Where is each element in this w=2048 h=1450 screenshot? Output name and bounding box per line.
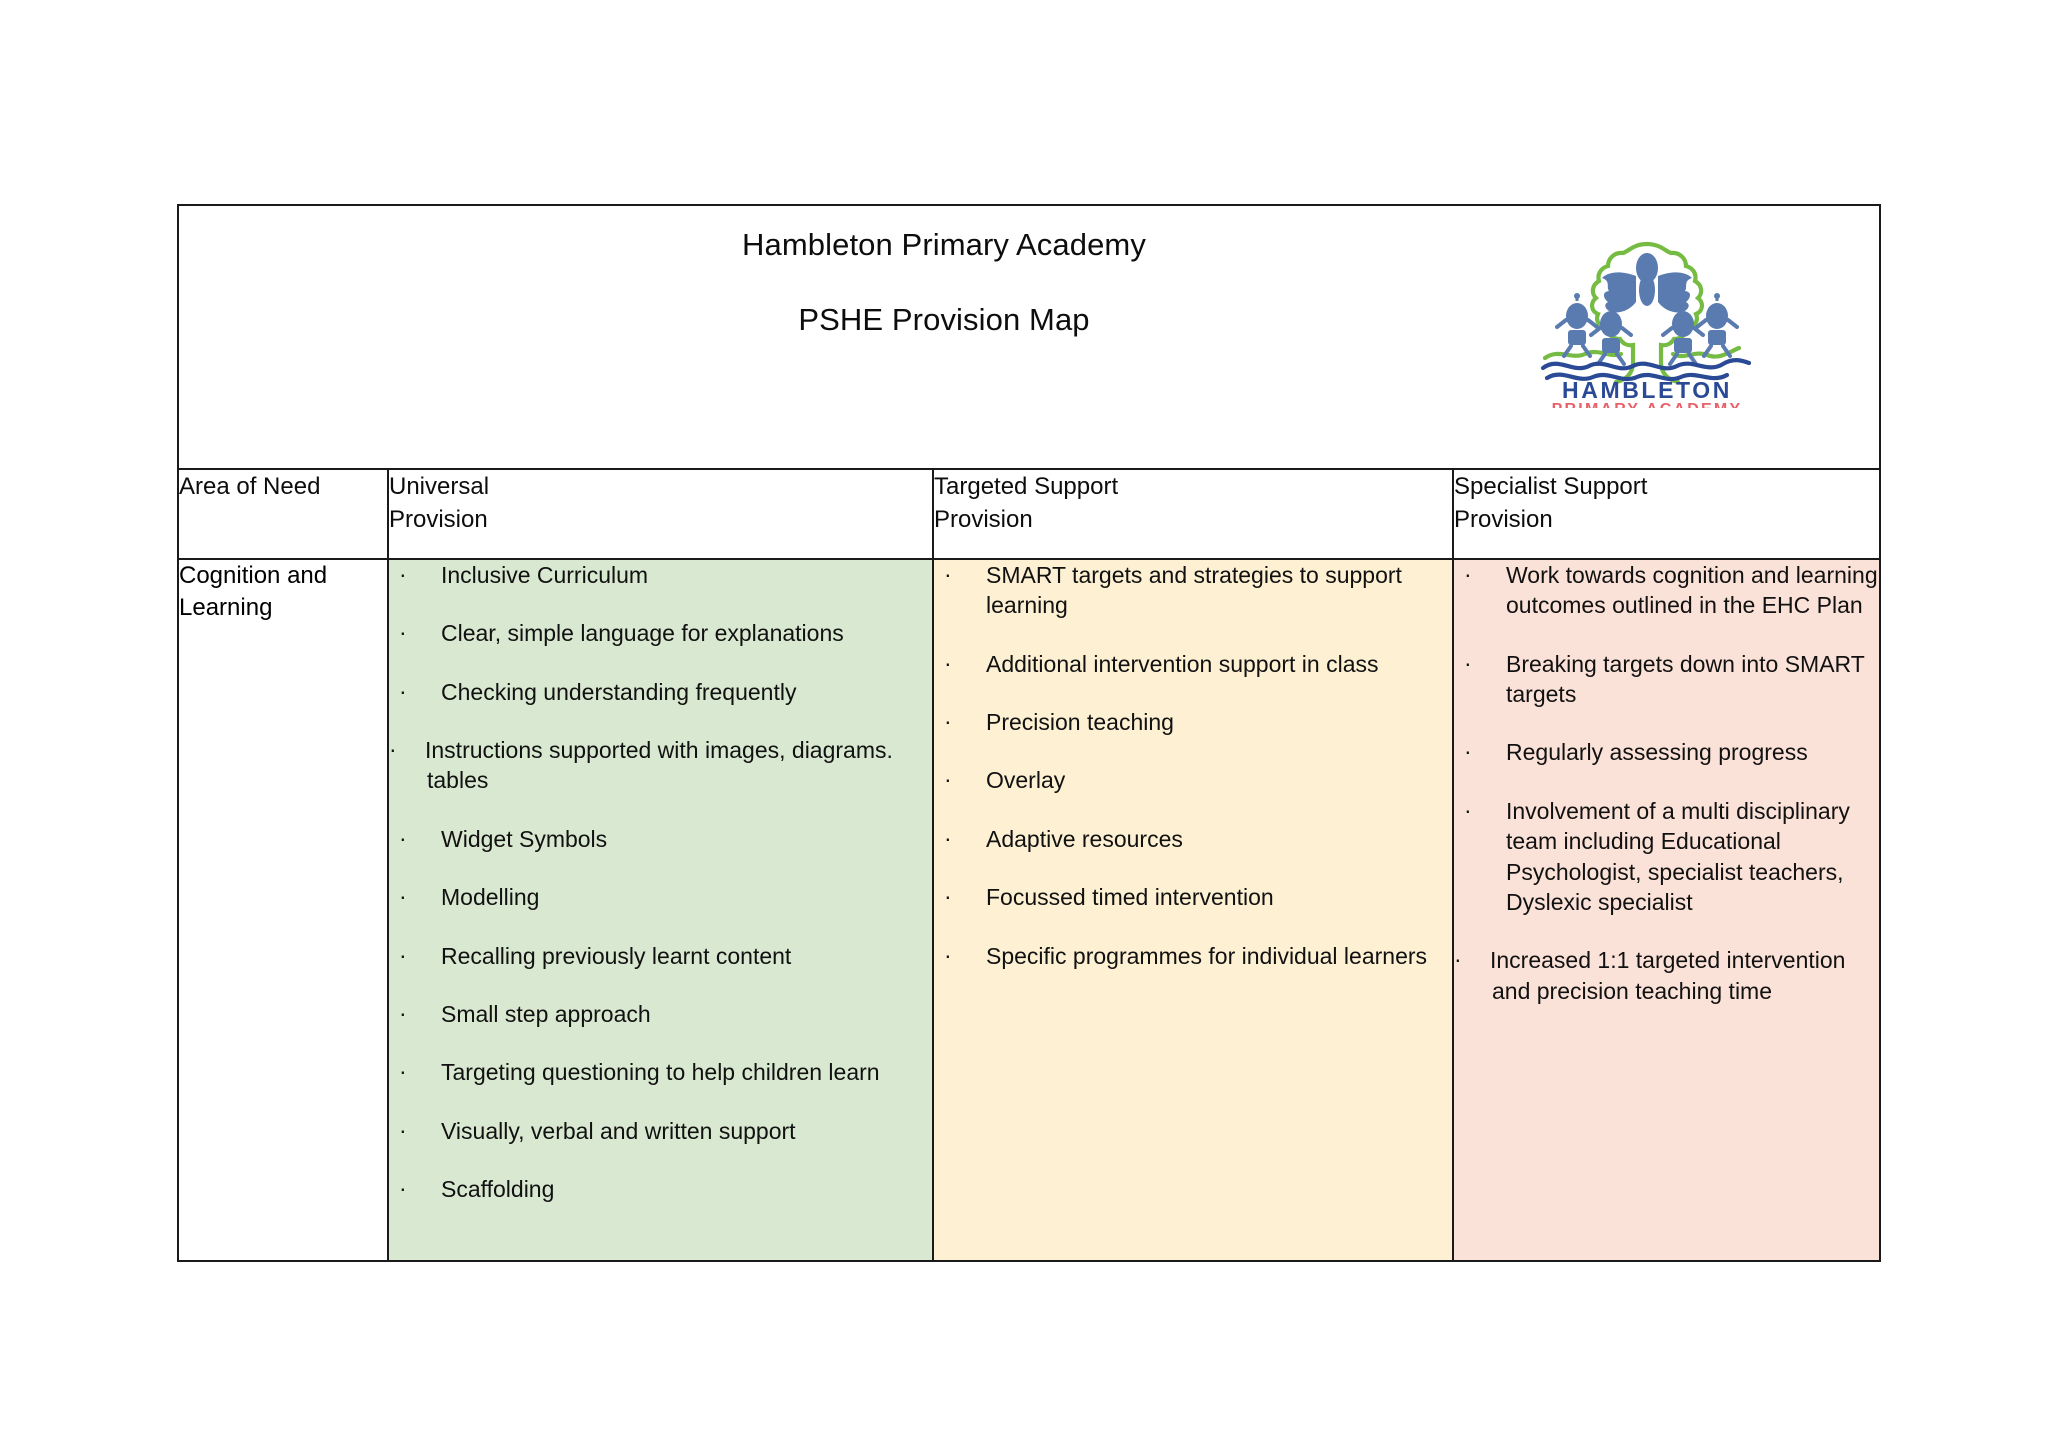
- column-header-label-line2: Provision: [1454, 503, 1879, 536]
- column-header-label-line2: Provision: [934, 503, 1452, 536]
- list-item: · Modelling: [389, 882, 932, 912]
- bullet-dot-icon: ·: [1464, 559, 1472, 589]
- universal-provision-list: · Inclusive Curriculum · Clear, simple l…: [389, 560, 932, 1204]
- list-item-text: Adaptive resources: [986, 826, 1183, 852]
- column-header-area-of-need: Area of Need: [178, 469, 388, 559]
- logo-wordmark-bottom: PRIMARY ACADEMY: [1552, 401, 1743, 408]
- list-item-text: Involvement of a multi disciplinary team…: [1506, 798, 1850, 915]
- column-header-specialist-support-provision: Specialist Support Provision: [1453, 469, 1880, 559]
- bullet-dot-icon: ·: [944, 559, 952, 589]
- column-header-targeted-support-provision: Targeted Support Provision: [933, 469, 1453, 559]
- area-of-need-cell: Cognition and Learning: [178, 559, 388, 1261]
- list-item-text: Inclusive Curriculum: [441, 562, 648, 588]
- table-column-header-row: Area of Need Universal Provision Targete…: [178, 469, 1880, 559]
- list-item-text: Additional intervention support in class: [986, 651, 1379, 677]
- targeted-support-provision-cell: · SMART targets and strategies to suppor…: [933, 559, 1453, 1261]
- bullet-dot-icon: ·: [399, 676, 407, 706]
- list-item: · Instructions supported with images, di…: [389, 735, 932, 796]
- bullet-dot-icon: ·: [944, 648, 952, 678]
- list-item: · Precision teaching: [934, 707, 1452, 737]
- document-title-cell: Hambleton Primary Academy PSHE Provision…: [178, 205, 1880, 469]
- list-item-text: Overlay: [986, 767, 1065, 793]
- list-item-text: Regularly assessing progress: [1506, 739, 1808, 765]
- bullet-dot-icon: ·: [389, 734, 397, 764]
- list-item: · Breaking targets down into SMART targe…: [1454, 649, 1879, 710]
- list-item: · Regularly assessing progress: [1454, 737, 1879, 767]
- list-item: · Increased 1:1 targeted intervention an…: [1454, 945, 1879, 1006]
- list-item-text: SMART targets and strategies to support …: [986, 562, 1402, 618]
- list-item: · Visually, verbal and written support: [389, 1116, 932, 1146]
- bullet-dot-icon: ·: [399, 998, 407, 1028]
- table-row: Cognition and Learning · Inclusive Curri…: [178, 559, 1880, 1261]
- bullet-dot-icon: ·: [944, 881, 952, 911]
- list-item-text: Focussed timed intervention: [986, 884, 1274, 910]
- list-item: · SMART targets and strategies to suppor…: [934, 560, 1452, 621]
- column-header-label: Area of Need: [179, 470, 387, 503]
- bullet-dot-icon: ·: [944, 940, 952, 970]
- bullet-dot-icon: ·: [944, 764, 952, 794]
- bullet-dot-icon: ·: [399, 559, 407, 589]
- bullet-dot-icon: ·: [1464, 795, 1472, 825]
- bullet-dot-icon: ·: [944, 706, 952, 736]
- column-header-label-line1: Targeted Support: [934, 470, 1452, 503]
- list-item: · Small step approach: [389, 999, 932, 1029]
- area-of-need-label-line1: Cognition and: [179, 560, 387, 592]
- list-item: · Clear, simple language for explanation…: [389, 618, 932, 648]
- list-item-text: Work towards cognition and learning outc…: [1506, 562, 1878, 618]
- list-item: · Additional intervention support in cla…: [934, 649, 1452, 679]
- list-item-text: Modelling: [441, 884, 539, 910]
- list-item: · Recalling previously learnt content: [389, 941, 932, 971]
- bullet-dot-icon: ·: [1464, 736, 1472, 766]
- specialist-support-provision-list: · Work towards cognition and learning ou…: [1454, 560, 1879, 1006]
- list-item: · Inclusive Curriculum: [389, 560, 932, 590]
- page-subtitle: PSHE Provision Map: [179, 301, 1709, 340]
- bullet-dot-icon: ·: [944, 823, 952, 853]
- butterfly-emblem-icon: [1602, 253, 1692, 312]
- bullet-dot-icon: ·: [1454, 944, 1462, 974]
- list-item: · Widget Symbols: [389, 824, 932, 854]
- list-item: · Focussed timed intervention: [934, 882, 1452, 912]
- column-header-label-line2: Provision: [389, 503, 932, 536]
- list-item-text: Increased 1:1 targeted intervention and …: [1492, 945, 1879, 1006]
- list-item: · Specific programmes for individual lea…: [934, 941, 1452, 971]
- area-of-need-label-line2: Learning: [179, 592, 387, 624]
- table-header-band-row: Hambleton Primary Academy PSHE Provision…: [178, 205, 1880, 469]
- bullet-dot-icon: ·: [399, 881, 407, 911]
- bullet-dot-icon: ·: [399, 1115, 407, 1145]
- school-logo: HAMBLETON PRIMARY ACADEMY: [1533, 228, 1761, 408]
- list-item-text: Clear, simple language for explanations: [441, 620, 844, 646]
- list-item: · Involvement of a multi disciplinary te…: [1454, 796, 1879, 917]
- list-item-text: Checking understanding frequently: [441, 679, 796, 705]
- document-page: Hambleton Primary Academy PSHE Provision…: [0, 0, 2048, 1450]
- column-header-universal-provision: Universal Provision: [388, 469, 933, 559]
- list-item-text: Recalling previously learnt content: [441, 943, 791, 969]
- list-item: · Targeting questioning to help children…: [389, 1057, 932, 1087]
- list-item: · Scaffolding: [389, 1174, 932, 1204]
- bullet-dot-icon: ·: [399, 940, 407, 970]
- list-item-text: Specific programmes for individual learn…: [986, 943, 1427, 969]
- list-item-text: Instructions supported with images, diag…: [427, 735, 932, 796]
- list-item: · Checking understanding frequently: [389, 677, 932, 707]
- list-item-text: Breaking targets down into SMART targets: [1506, 651, 1864, 707]
- universal-provision-cell: · Inclusive Curriculum · Clear, simple l…: [388, 559, 933, 1261]
- bullet-dot-icon: ·: [1464, 648, 1472, 678]
- bullet-dot-icon: ·: [399, 1056, 407, 1086]
- bullet-dot-icon: ·: [399, 823, 407, 853]
- specialist-support-provision-cell: · Work towards cognition and learning ou…: [1453, 559, 1880, 1261]
- list-item-text: Widget Symbols: [441, 826, 607, 852]
- list-item-text: Visually, verbal and written support: [441, 1118, 796, 1144]
- list-item-text: Small step approach: [441, 1001, 651, 1027]
- column-header-label-line1: Universal: [389, 470, 932, 503]
- list-item-text: Scaffolding: [441, 1176, 554, 1202]
- provision-map-table: Hambleton Primary Academy PSHE Provision…: [177, 204, 1881, 1262]
- list-item: · Adaptive resources: [934, 824, 1452, 854]
- bullet-dot-icon: ·: [399, 617, 407, 647]
- page-title: Hambleton Primary Academy: [179, 226, 1709, 265]
- bullet-dot-icon: ·: [399, 1173, 407, 1203]
- list-item-text: Precision teaching: [986, 709, 1174, 735]
- column-header-label-line1: Specialist Support: [1454, 470, 1879, 503]
- list-item: · Work towards cognition and learning ou…: [1454, 560, 1879, 621]
- logo-wordmark-top: HAMBLETON: [1562, 377, 1732, 403]
- targeted-support-provision-list: · SMART targets and strategies to suppor…: [934, 560, 1452, 971]
- list-item: · Overlay: [934, 765, 1452, 795]
- list-item-text: Targeting questioning to help children l…: [441, 1059, 880, 1085]
